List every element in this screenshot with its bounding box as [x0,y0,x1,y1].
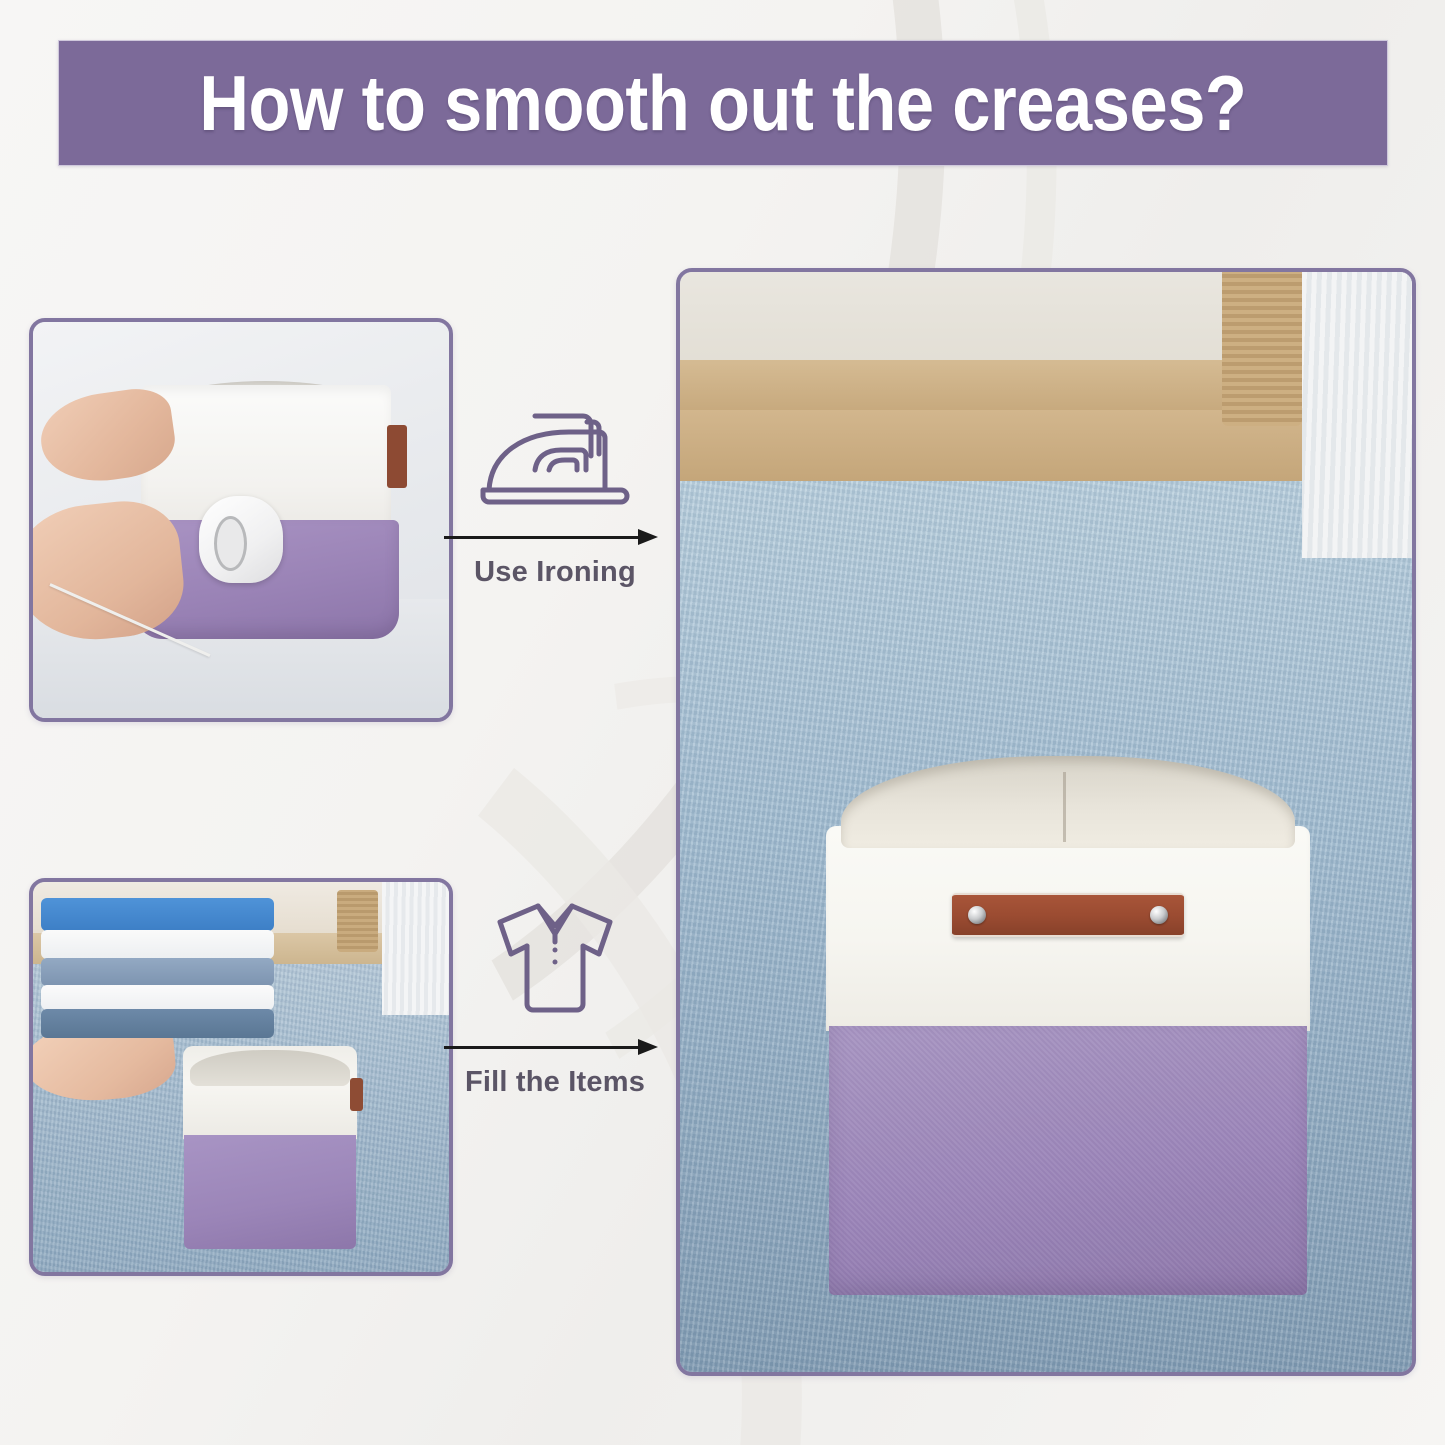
basket-inner-lining [841,756,1295,848]
photo-folded-clothes [29,878,453,1276]
photo-hero-basket [676,268,1416,1376]
curtain [1302,272,1412,558]
arrow-head [638,529,658,545]
photo-steaming-basket-content [33,322,449,718]
step-fill: Fill the Items [440,908,670,1099]
iron-icon [440,398,670,516]
handle-rivet-right [1150,906,1168,924]
folded-item-blue [41,898,274,932]
storage-basket [183,1046,358,1249]
basket-inner-divider [1063,772,1066,842]
photo-hero-basket-content [680,272,1412,1372]
photo-folded-clothes-content [33,882,449,1272]
step-ironing-label: Use Ironing [440,556,670,589]
arrow-line [444,536,640,539]
basket-inner-lining [190,1050,351,1087]
arrow-line [444,1046,640,1049]
step-fill-label: Fill the Items [440,1066,670,1099]
folded-item-denim [41,1009,274,1038]
folded-clothes-stack [41,898,274,1038]
basket-leather-tab [387,425,408,488]
folded-item-grey-blue [41,958,274,986]
title-banner: How to smooth out the creases? [58,40,1388,166]
handle-rivet-left [968,906,986,924]
arrow-step-ironing [440,524,670,550]
basket-purple-body [184,1135,355,1249]
basket-leather-handle [952,893,1184,936]
arrow-head [638,1039,658,1055]
wicker-basket [337,890,379,952]
wicker-basket [1222,272,1303,426]
basket-leather-tab [350,1078,362,1110]
arrow-step-fill [440,1034,670,1060]
basket-purple-body [829,1026,1307,1296]
storage-basket [826,756,1309,1295]
polo-shirt-icon [440,908,670,1026]
infographic-canvas: How to smooth out the creases? [0,0,1445,1445]
folded-item-white [41,985,274,1010]
photo-steaming-basket [29,318,453,722]
folded-item-white-textured [41,930,274,959]
page-title: How to smooth out the creases? [199,58,1246,149]
step-ironing: Use Ironing [440,398,670,589]
